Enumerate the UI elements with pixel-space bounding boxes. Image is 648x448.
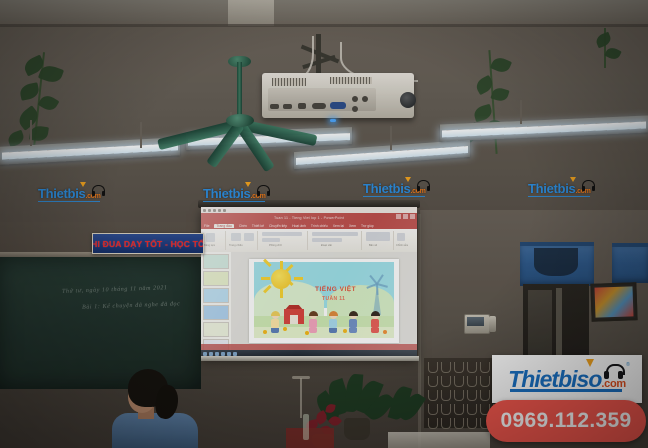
wall-hook <box>441 418 451 429</box>
ribbon-tab-1[interactable]: Trang đầu <box>214 224 233 228</box>
fan-hub <box>226 114 254 127</box>
blackboard-line-1: Thứ tư, ngày 10 tháng 11 năm 2021 <box>62 285 168 295</box>
slide-title: TIẾNG VIỆT <box>315 286 356 293</box>
ribbon-tab-8[interactable]: Xem <box>349 224 356 228</box>
wall-hook <box>441 390 451 401</box>
headset-icon <box>257 185 270 195</box>
curtain-hook <box>552 234 562 243</box>
taskbar-icon-4[interactable] <box>221 352 225 356</box>
light-hanger-right <box>390 126 392 150</box>
projection-screen: Tuan 11 - Tieng Viet lop 1 - PowerPoint … <box>201 207 417 357</box>
slide-flower <box>263 330 267 334</box>
ribbon-tab-7[interactable]: Xem lại <box>333 224 344 228</box>
ceiling-beam <box>0 0 648 26</box>
light-hanger-left-2 <box>140 122 142 148</box>
wall-hook <box>454 404 464 415</box>
slideshow-icon[interactable] <box>218 209 221 212</box>
water-bottle <box>303 414 309 440</box>
window-curtain-2[interactable] <box>612 247 648 283</box>
brand-logo-card: Thietbis o .com ® <box>492 355 642 403</box>
powerpoint-window: Tuan 11 - Tieng Viet lop 1 - PowerPoint … <box>201 207 417 357</box>
window-title: Tuan 11 - Tieng Viet lop 1 - PowerPoint <box>274 216 344 220</box>
wall-hook <box>428 404 438 415</box>
wall-hook <box>454 418 464 429</box>
wall-hook <box>454 376 464 387</box>
watermark-4: Thietbis.com <box>528 181 591 196</box>
slide-child <box>329 312 337 333</box>
slide-editing-area[interactable]: TIẾNG VIỆT TUẦN 11 <box>231 252 417 350</box>
taskbar-icon-1[interactable] <box>203 352 207 356</box>
ribbon-tab-6[interactable]: Trình chiếu <box>311 224 328 228</box>
ribbon-tab-2[interactable]: Chèn <box>239 224 247 228</box>
wall-hook <box>428 376 438 387</box>
slide-thumbnail-3[interactable] <box>203 288 229 303</box>
slide-child <box>309 312 317 333</box>
wall-hook <box>454 362 464 373</box>
window-controls[interactable] <box>396 214 415 219</box>
headset-icon <box>604 364 623 380</box>
slide-thumbnail-5[interactable] <box>203 322 229 337</box>
close-icon[interactable] <box>410 214 415 219</box>
projector-port-lan <box>298 103 306 109</box>
projector-port-hdmi <box>270 104 279 109</box>
headset-icon <box>582 180 595 190</box>
taskbar-icon-5[interactable] <box>227 352 231 356</box>
mic-stand <box>300 378 302 418</box>
projector-port-rgb <box>330 102 346 109</box>
ceiling-skylight-patch <box>228 0 274 26</box>
ribbon-group-label: Bản vẽ <box>369 244 377 247</box>
slide-child <box>371 312 379 333</box>
wall-hook <box>480 390 490 401</box>
slide-thumbnail-1[interactable] <box>203 254 229 269</box>
fan-downrod <box>237 62 242 120</box>
ribbon-tab-0[interactable]: File <box>204 224 209 228</box>
projector-port-rca <box>352 96 358 102</box>
wall-panel-screen <box>467 317 484 326</box>
projector-port-usb <box>283 104 292 109</box>
slide-thumbnail-pane[interactable] <box>201 252 231 350</box>
teacher-figure <box>112 369 198 448</box>
ribbon-group-label: Phông chữ <box>269 244 282 247</box>
screen-bottom-bar <box>199 356 419 361</box>
light-hanger-left <box>30 120 32 146</box>
wall-hook <box>467 390 477 401</box>
current-slide[interactable]: TIẾNG VIỆT TUẦN 11 <box>249 259 399 343</box>
wall-hook <box>480 362 490 373</box>
ribbon-tab-5[interactable]: Hoạt ảnh <box>292 224 306 228</box>
save-icon[interactable] <box>203 209 206 212</box>
wall-hook <box>467 418 477 429</box>
slide-thumbnail-2[interactable] <box>203 271 229 286</box>
ribbon-group-label: Trang chiếu <box>229 244 243 247</box>
slide-flower <box>305 331 309 335</box>
phone-number: 0969.112.359 <box>501 409 632 433</box>
maximize-icon[interactable] <box>403 214 408 219</box>
ribbon-group-label: Đoạn văn <box>321 244 332 247</box>
taskbar-icon-6[interactable] <box>233 352 237 356</box>
watermark-brand: Thietbis <box>363 181 410 196</box>
powerpoint-workspace: TIẾNG VIỆT TUẦN 11 <box>201 252 417 350</box>
undo-icon[interactable] <box>208 209 211 212</box>
projector-vent-2 <box>330 77 372 84</box>
classroom-projector-photo: Tuan 11 - Tieng Viet lop 1 - PowerPoint … <box>0 0 648 448</box>
slide-child <box>349 312 357 333</box>
classroom-banner: THI ĐUA DẠY TỐT - HỌC TỐT <box>92 233 204 254</box>
taskbar-icon-3[interactable] <box>215 352 219 356</box>
slide-barn-door <box>290 315 298 324</box>
phone-number-badge[interactable]: 0969.112.359 <box>486 400 646 442</box>
slide-flower <box>383 330 387 334</box>
framed-artwork <box>590 282 637 322</box>
projector-power-led <box>330 119 336 122</box>
slide-subtitle: TUẦN 11 <box>322 296 345 302</box>
wall-hook <box>428 362 438 373</box>
mic-stand-base <box>292 376 310 379</box>
watermark-3: Thietbis.com <box>363 181 426 196</box>
watermark-brand: Thietbis <box>203 186 250 201</box>
wall-hook <box>441 404 451 415</box>
banner-text: THI ĐUA DẠY TỐT - HỌC TỐT <box>92 239 204 249</box>
wall-panel-handset[interactable] <box>489 316 496 332</box>
slide-child <box>271 312 279 333</box>
ribbon[interactable]: Bảng tạm Trang chiếu Phông chữ Đoạn văn … <box>201 229 417 253</box>
customize-qat-icon[interactable] <box>223 209 226 212</box>
ribbon-tab-3[interactable]: Thiết kế <box>252 224 264 228</box>
redo-icon[interactable] <box>213 209 216 212</box>
slide-thumbnail-4[interactable] <box>203 305 229 320</box>
ribbon-tab-strip[interactable]: FileTrang đầuChènThiết kếChuyển tiếpHoạt… <box>201 222 417 229</box>
blackboard-line-2: Bài 1: Kể chuyện đã nghe đã đọc <box>82 301 181 310</box>
front-table <box>388 432 490 448</box>
projector-vent <box>272 78 306 86</box>
ceiling-seam <box>0 24 648 27</box>
minimize-icon[interactable] <box>396 214 401 219</box>
wall-hook <box>467 404 477 415</box>
wall-hook <box>441 376 451 387</box>
projector-port-rca-3 <box>352 106 358 112</box>
registered-mark: ® <box>626 362 630 368</box>
cursor-triangle-icon <box>586 359 594 367</box>
wall-hook <box>441 362 451 373</box>
light-hanger-far-right <box>520 100 522 124</box>
brand-underline <box>510 389 622 392</box>
ribbon-group-label: Bảng tạm <box>204 244 215 247</box>
curtain-valance-shadow <box>534 248 578 276</box>
wall-hook <box>428 390 438 401</box>
wall-hook <box>480 376 490 387</box>
wall-hook <box>467 376 477 387</box>
slide-flower <box>283 327 287 331</box>
powerpoint-title-bar: Tuan 11 - Tieng Viet lop 1 - PowerPoint <box>201 213 417 222</box>
wall-corner-edge <box>418 214 421 448</box>
wall-hook <box>467 362 477 373</box>
watermark-brand: Thietbis <box>528 181 575 196</box>
slide-flower <box>343 329 347 333</box>
projector-port-rca-2 <box>362 96 368 102</box>
teacher-torso <box>112 413 198 448</box>
wall-hook <box>428 418 438 429</box>
projector-lens <box>400 92 416 108</box>
headset-icon <box>417 180 430 190</box>
watermark-brand: Thietbis <box>38 186 85 201</box>
headset-icon <box>92 185 105 195</box>
artwork-canvas <box>594 286 633 317</box>
wall-hook <box>454 390 464 401</box>
watermark-1: Thietbis.com <box>38 186 101 201</box>
red-table <box>286 428 334 448</box>
ribbon-tab-9[interactable]: Trợ giúp <box>361 224 374 228</box>
ribbon-group-label: Chỉnh sửa <box>396 244 408 247</box>
projector-port-vga <box>312 103 326 109</box>
taskbar-icon-2[interactable] <box>209 352 213 356</box>
ribbon-tab-4[interactable]: Chuyển tiếp <box>269 224 287 228</box>
watermark-2: Thietbis.com <box>203 186 266 201</box>
